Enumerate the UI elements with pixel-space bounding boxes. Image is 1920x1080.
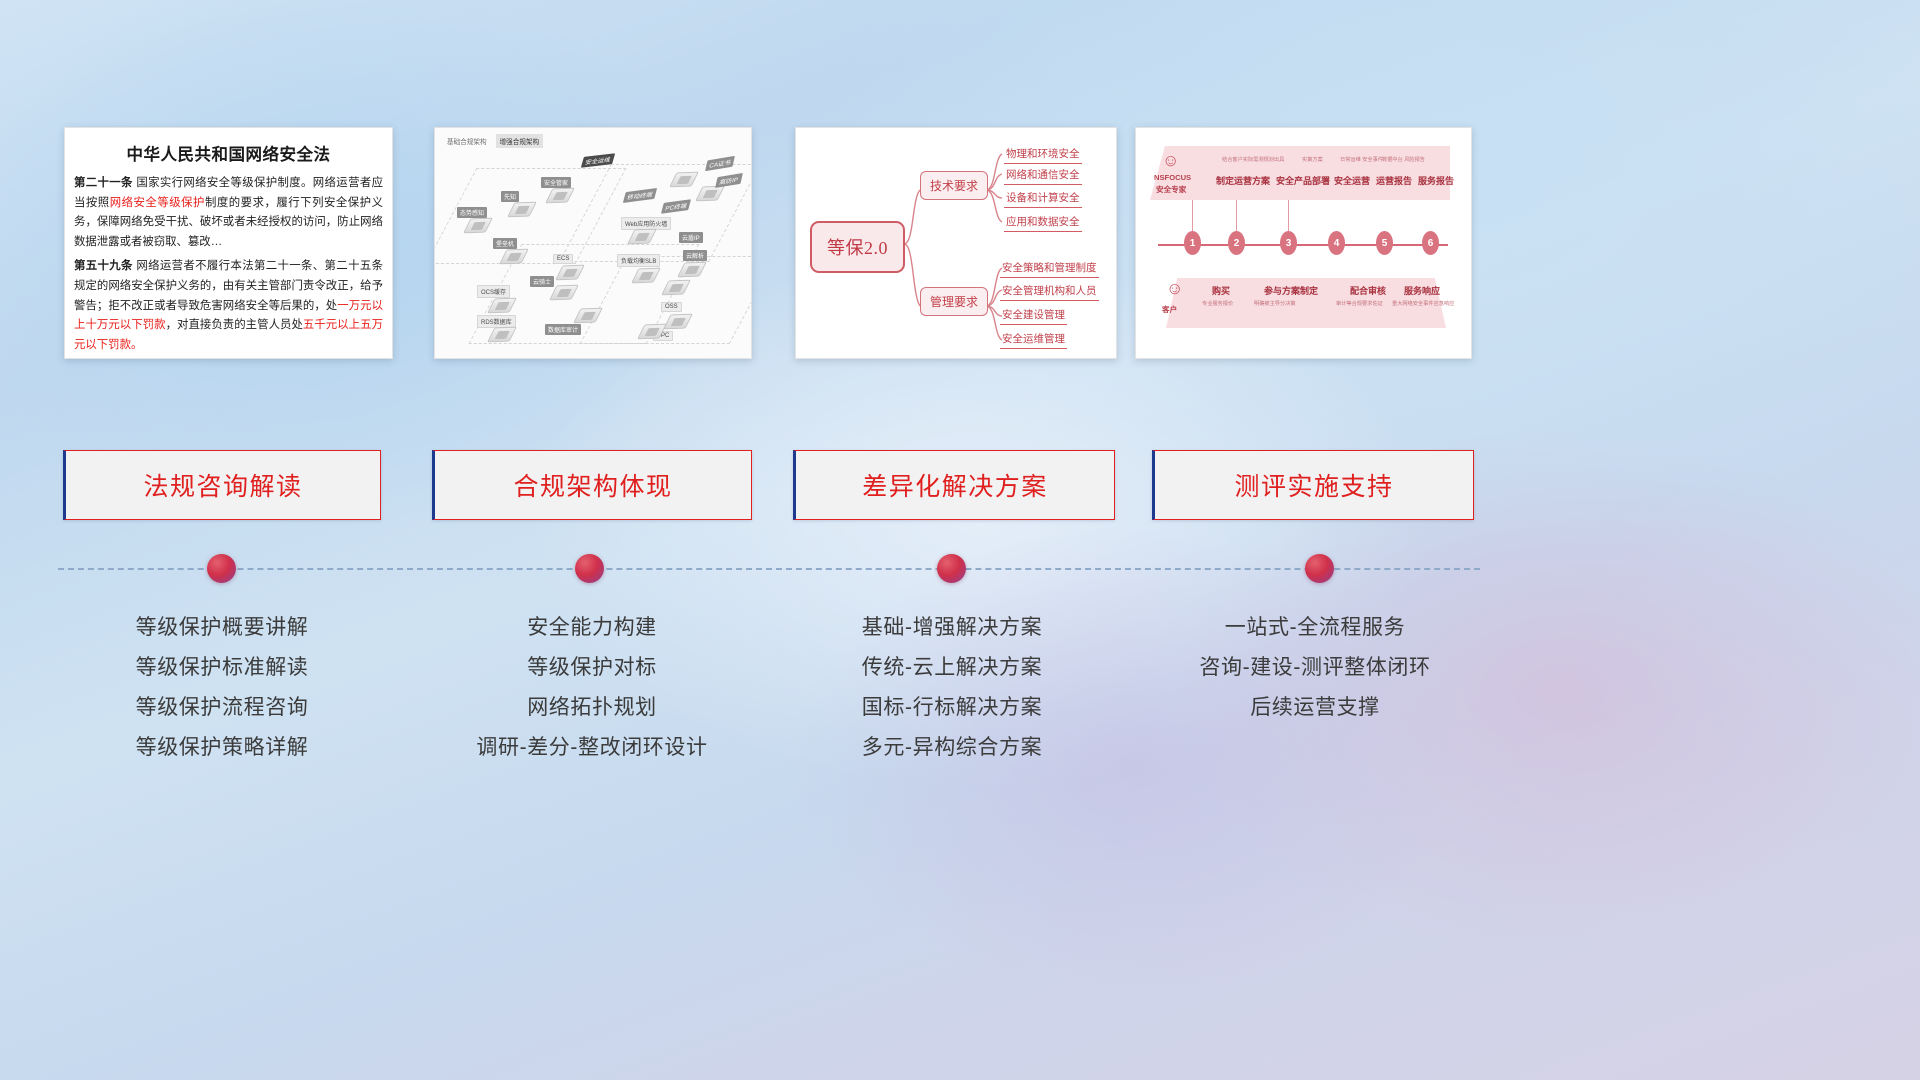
- list-item: 基础-增强解决方案: [862, 608, 1042, 648]
- poster-canvas: 中华人民共和国网络安全法 第二十一条 国家实行网络安全等级保护制度。网络运营者应…: [0, 0, 1920, 1080]
- section-title-assessment-support[interactable]: 测评实施支持: [1152, 450, 1474, 520]
- mindmap-leaf-device-compute[interactable]: 设备和计算安全: [1004, 190, 1082, 208]
- mindmap-leaf-operation[interactable]: 安全运维管理: [1000, 331, 1067, 349]
- section-title-label-4: 测评实施支持: [1234, 467, 1393, 503]
- feature-list-differentiated-solution: 基础-增强解决方案 传统-云上解决方案 国标-行标解决方案 多元-异构综合方案: [772, 608, 1132, 768]
- top-step-2-label: 安全产品部署: [1276, 174, 1330, 187]
- dashed-timeline-line: [58, 568, 1480, 570]
- architecture-diagram: 基础合规架构 增强合规架构 安全运维 安全管家 先知 态势感知 堡垒机 ECS …: [435, 128, 751, 358]
- card-cloud-architecture[interactable]: 基础合规架构 增强合规架构 安全运维 安全管家 先知 态势感知 堡垒机 ECS …: [434, 127, 752, 359]
- section-title-compliance-architecture[interactable]: 合规架构体现: [432, 450, 752, 520]
- article-number-59: 第五十九条: [74, 260, 133, 272]
- top-step-1-tiny: 结合客户实际需测规划出具: [1222, 156, 1284, 163]
- timeline-step-5[interactable]: 5: [1376, 231, 1393, 255]
- list-item: 网络拓扑规划: [527, 688, 657, 728]
- top-step-5-label: 服务报告: [1418, 174, 1454, 187]
- list-item: 传统-云上解决方案: [862, 648, 1042, 688]
- arch-label-xianzhi: 先知: [501, 191, 519, 202]
- mindmap-leaf-construction[interactable]: 安全建设管理: [1000, 307, 1067, 325]
- list-item: 等级保护概要讲解: [136, 608, 309, 648]
- law-body: 第二十一条 国家实行网络安全等级保护制度。网络运营者应当按照网络安全等级保护制度…: [65, 174, 392, 355]
- bottom-step-2-tiny: 明确被主导分决策: [1254, 300, 1296, 307]
- timeline-step-6[interactable]: 6: [1422, 231, 1439, 255]
- mindmap-leaf-policy-system[interactable]: 安全策略和管理制度: [1000, 260, 1099, 278]
- law-paragraph-21: 第二十一条 国家实行网络安全等级保护制度。网络运营者应当按照网络安全等级保护制度…: [74, 174, 383, 252]
- feature-list-regulation-consulting: 等级保护概要讲解 等级保护标准解读 等级保护流程咨询 等级保护策略详解: [42, 608, 402, 768]
- arch-label-oss: OSS: [661, 302, 682, 312]
- timeline-marker-1[interactable]: [207, 554, 236, 583]
- list-item: 调研-差分-整改闭环设计: [476, 728, 707, 768]
- section-title-label-1: 法规咨询解读: [143, 467, 302, 503]
- timeline-tick-3: [1288, 200, 1289, 232]
- bottom-step-4-label: 服务响应: [1404, 284, 1440, 297]
- mindmap-root-node[interactable]: 等保2.0: [810, 221, 905, 273]
- timeline-step-1[interactable]: 1: [1184, 231, 1201, 255]
- top-step-3-label: 安全运营: [1334, 174, 1370, 187]
- card-nsfocus-timeline[interactable]: ☺ NSFOCUS 安全专家 结合客户实际需测规划出具 实策方案 日常运维 安全…: [1135, 127, 1472, 359]
- section-title-label-2: 合规架构体现: [513, 467, 672, 503]
- arch-label-slb: 负载均衡SLB: [617, 254, 660, 267]
- top-step-1-label: 制定运营方案: [1216, 174, 1270, 187]
- timeline-tick-2: [1236, 200, 1237, 232]
- feature-list-compliance-architecture: 安全能力构建 等级保护对标 网络拓扑规划 调研-差分-整改闭环设计: [412, 608, 772, 768]
- top-step-2-tiny: 实策方案: [1302, 156, 1323, 163]
- arch-label-security-butler: 安全管家: [541, 177, 571, 188]
- list-item: 咨询-建设-测评整体闭环: [1199, 648, 1430, 688]
- article-21-highlight: 网络安全等级保护: [110, 197, 205, 209]
- arch-label-bastion: 堡垒机: [493, 238, 517, 249]
- section-title-differentiated-solution[interactable]: 差异化解决方案: [793, 450, 1115, 520]
- arch-label-cloud-resolve: 云解析: [683, 250, 707, 261]
- article-number-21: 第二十一条: [74, 177, 133, 189]
- expert-avatar-icon: ☺: [1162, 152, 1179, 169]
- mindmap-branch-management[interactable]: 管理要求: [920, 287, 988, 316]
- mindmap-leaf-org-personnel[interactable]: 安全管理机构和人员: [1000, 283, 1099, 301]
- mindmap: 等保2.0 技术要求 物理和环境安全 网络和通信安全 设备和计算安全 应用和数据…: [796, 128, 1116, 358]
- mindmap-leaf-app-data[interactable]: 应用和数据安全: [1004, 214, 1082, 232]
- timeline-step-2[interactable]: 2: [1228, 231, 1245, 255]
- timeline-marker-3[interactable]: [937, 554, 966, 583]
- list-item: 多元-异构综合方案: [862, 728, 1042, 768]
- top-step-3-tiny: 日常运维 安全事件: [1340, 156, 1383, 163]
- article-59-text-b: ，对直接负责的主管人员处: [166, 319, 303, 331]
- arch-label-cloud-shield-ip: 云盾IP: [679, 232, 703, 243]
- list-item: 国标-行标解决方案: [862, 688, 1042, 728]
- arch-label-ecs: ECS: [553, 254, 573, 264]
- list-item: 等级保护策略详解: [136, 728, 309, 768]
- brand-name: NSFOCUS: [1154, 173, 1191, 182]
- brand-subtitle: 安全专家: [1156, 184, 1186, 195]
- bottom-step-1-tiny: 专业服务报价: [1202, 300, 1233, 307]
- mindmap-leaf-network-comm[interactable]: 网络和通信安全: [1004, 167, 1082, 185]
- list-item: 等级保护流程咨询: [136, 688, 309, 728]
- timeline-top-band: [1150, 146, 1450, 200]
- top-step-4-tiny: 数据中台 风险报告: [1382, 156, 1425, 163]
- timeline-marker-4[interactable]: [1305, 554, 1334, 583]
- customer-avatar-icon: ☺: [1166, 280, 1183, 297]
- timeline-tick-1: [1192, 200, 1193, 232]
- tab-basic-compliance[interactable]: 基础合规架构: [443, 134, 491, 148]
- arch-label-situational-awareness: 态势感知: [457, 207, 487, 218]
- mindmap-leaf-physical-env[interactable]: 物理和环境安全: [1004, 146, 1082, 164]
- bottom-step-2-label: 参与方案制定: [1264, 284, 1318, 297]
- timeline-marker-2[interactable]: [575, 554, 604, 583]
- list-item: 后续运营支撑: [1250, 688, 1380, 728]
- list-item: 等级保护对标: [527, 648, 657, 688]
- list-item: 一站式-全流程服务: [1225, 608, 1405, 648]
- customer-role-label: 客户: [1162, 304, 1177, 315]
- list-item: 安全能力构建: [527, 608, 657, 648]
- architecture-tabs[interactable]: 基础合规架构 增强合规架构: [443, 134, 543, 148]
- card-mindmap-dengbao[interactable]: 等保2.0 技术要求 物理和环境安全 网络和通信安全 设备和计算安全 应用和数据…: [795, 127, 1117, 359]
- nsfocus-service-timeline: ☺ NSFOCUS 安全专家 结合客户实际需测规划出具 实策方案 日常运维 安全…: [1136, 128, 1471, 358]
- arch-label-cloud-knight: 云骑士: [530, 276, 554, 287]
- timeline-step-3[interactable]: 3: [1280, 231, 1297, 255]
- bottom-step-3-tiny: 审计等合规要求佐证: [1336, 300, 1383, 307]
- timeline-axis: [1158, 244, 1448, 246]
- bottom-step-4-tiny: 重大网络安全事件应急响应: [1392, 300, 1454, 307]
- section-title-regulation-consulting[interactable]: 法规咨询解读: [63, 450, 381, 520]
- feature-list-assessment-support: 一站式-全流程服务 咨询-建设-测评整体闭环 后续运营支撑: [1135, 608, 1495, 728]
- list-item: 等级保护标准解读: [136, 648, 309, 688]
- timeline-step-4[interactable]: 4: [1328, 231, 1345, 255]
- arch-label-ocs-cache: OCS缓存: [477, 285, 510, 298]
- bottom-step-3-label: 配合审核: [1350, 284, 1386, 297]
- mindmap-branch-technical[interactable]: 技术要求: [920, 171, 988, 200]
- law-paragraph-59: 第五十九条 网络运营者不履行本法第二十一条、第二十五条规定的网络安全保护义务的，…: [74, 257, 383, 355]
- bottom-step-1-label: 购买: [1212, 284, 1230, 297]
- tab-enhanced-compliance[interactable]: 增强合规架构: [496, 134, 544, 148]
- law-title: 中华人民共和国网络安全法: [65, 141, 392, 165]
- section-title-label-3: 差异化解决方案: [862, 467, 1048, 503]
- top-step-4-label: 运营报告: [1376, 174, 1412, 187]
- card-cybersecurity-law[interactable]: 中华人民共和国网络安全法 第二十一条 国家实行网络安全等级保护制度。网络运营者应…: [64, 127, 393, 359]
- arch-label-db-audit: 数据库审计: [545, 324, 581, 335]
